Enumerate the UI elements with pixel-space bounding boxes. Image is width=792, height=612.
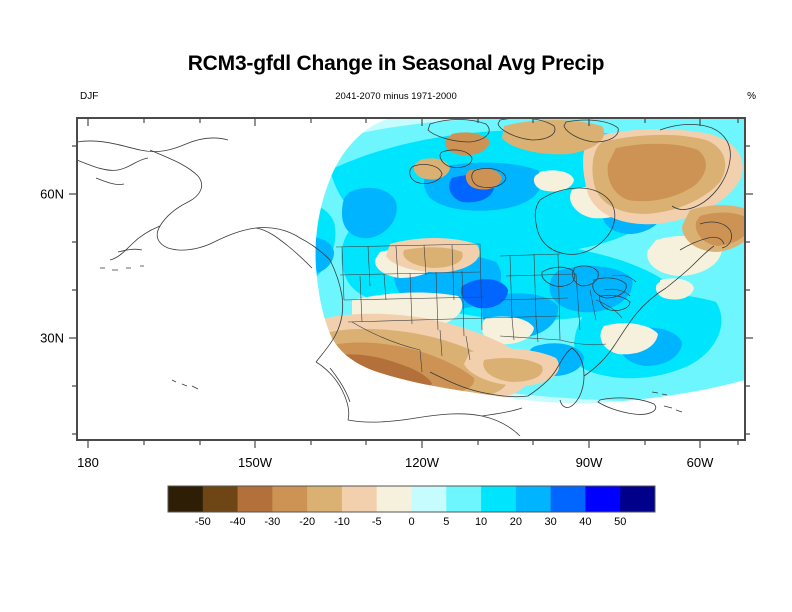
colorbar-tick-label: -50 xyxy=(195,516,211,528)
colorbar-swatch xyxy=(551,486,586,512)
colorbar-swatch xyxy=(516,486,551,512)
x-tick-label: 60W xyxy=(687,455,714,470)
y-tick-label: 60N xyxy=(40,187,64,202)
x-tick-label: 150W xyxy=(238,455,272,470)
colorbar-tick-label: 50 xyxy=(614,516,626,528)
colorbar-swatch xyxy=(168,486,203,512)
y-tick-label: 30N xyxy=(40,331,64,346)
x-tick-label: 180 xyxy=(77,455,99,470)
colorbar-tick-label: 20 xyxy=(510,516,522,528)
colorbar-swatch xyxy=(377,486,412,512)
colorbar-swatch xyxy=(481,486,516,512)
colorbar-tick-label: -20 xyxy=(299,516,315,528)
colorbar-tick-label: -10 xyxy=(334,516,350,528)
colorbar-swatch xyxy=(272,486,307,512)
colorbar-tick-label: 40 xyxy=(579,516,591,528)
colorbar-tick-label: 0 xyxy=(408,516,414,528)
colorbar-tick-label: 5 xyxy=(443,516,449,528)
figure-canvas: RCM3-gfdl Change in Seasonal Avg Precip … xyxy=(0,0,792,612)
colorbar-swatch xyxy=(203,486,238,512)
colorbar-tick-label: 10 xyxy=(475,516,487,528)
colorbar-swatch xyxy=(238,486,273,512)
colorbar-swatch xyxy=(446,486,481,512)
colorbar xyxy=(168,486,656,512)
colorbar-swatch xyxy=(585,486,620,512)
colorbar-tick-label: -40 xyxy=(230,516,246,528)
colorbar-tick-label: -30 xyxy=(264,516,280,528)
climate-map xyxy=(0,0,792,612)
colorbar-swatch xyxy=(307,486,342,512)
colorbar-swatch xyxy=(412,486,447,512)
colorbar-swatch xyxy=(620,486,655,512)
colorbar-swatch xyxy=(342,486,377,512)
y-axis-labels: 60N 30N xyxy=(0,0,64,612)
x-tick-label: 120W xyxy=(405,455,439,470)
colorbar-tick-label: 30 xyxy=(545,516,557,528)
x-tick-label: 90W xyxy=(576,455,603,470)
colorbar-tick-label: -5 xyxy=(372,516,382,528)
